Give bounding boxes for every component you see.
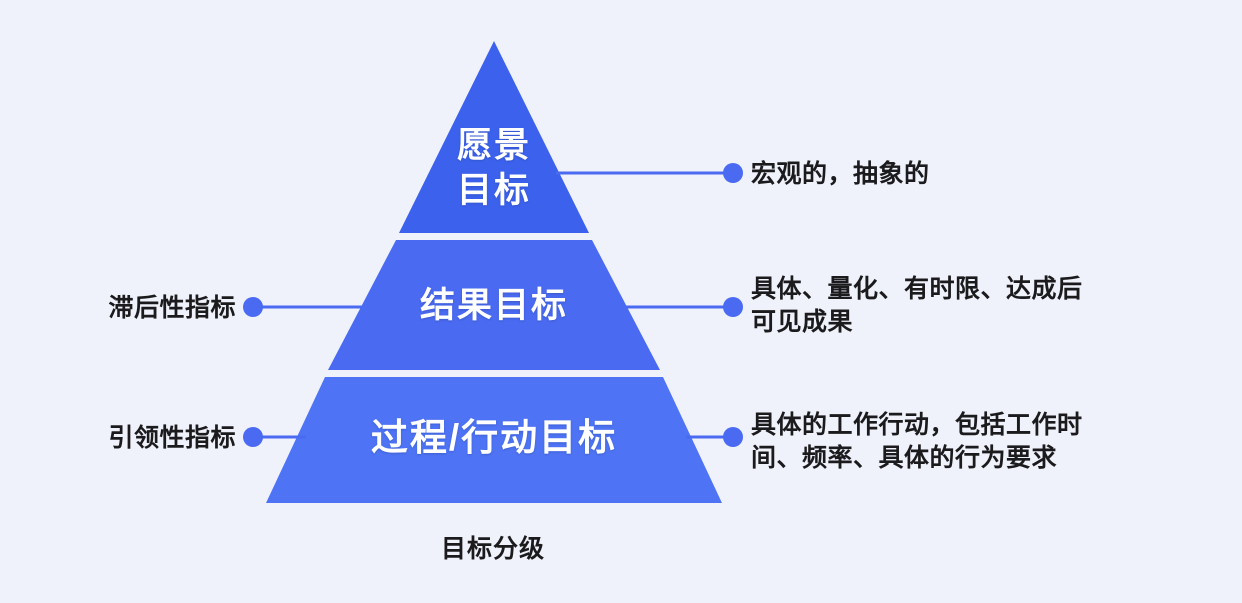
connector-outcome-left [243,297,374,317]
diagram-canvas: 愿景 目标 结果目标 过程/行动目标 滞后性指标 引领性指标 宏观的，抽象的 具… [0,0,1242,603]
pyramid-band-vision[interactable] [399,41,589,233]
connector-process-right [686,427,743,447]
annotation-leading-indicator: 引领性指标 [18,422,236,455]
connector-vision-right [556,163,743,183]
connector-dot[interactable] [243,427,263,447]
annotation-outcome-description: 具体、量化、有时限、达成后 可见成果 [751,273,1221,338]
annotation-lagging-indicator: 滞后性指标 [18,292,236,325]
connector-dot[interactable] [723,427,743,447]
connector-outcome-right [618,297,743,317]
connector-dot[interactable] [243,297,263,317]
annotation-process-description: 具体的工作行动，包括工作时 间、频率、具体的行为要求 [751,409,1231,474]
pyramid-band-outcome[interactable] [328,240,660,370]
annotation-vision-description: 宏观的，抽象的 [751,158,1211,191]
diagram-caption: 目标分级 [343,529,643,565]
connector-dot[interactable] [723,297,743,317]
pyramid-band-process[interactable] [266,377,722,503]
connector-dot[interactable] [723,163,743,183]
